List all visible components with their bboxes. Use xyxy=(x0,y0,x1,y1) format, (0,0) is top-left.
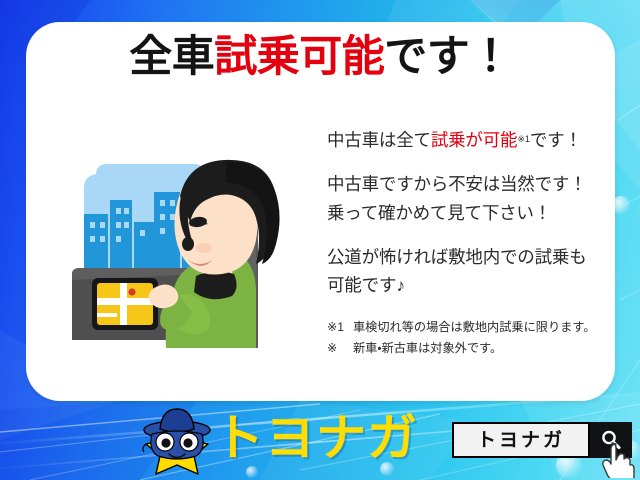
page-title: 全車試乗可能です！ xyxy=(26,32,615,83)
paragraph-3-line-1: 公道が怖ければ敷地内での試乗も xyxy=(327,247,587,267)
brand-wordmark: トヨナガ xyxy=(214,413,418,463)
paragraph-3: 公道が怖ければ敷地内での試乗も 可能です♪ xyxy=(327,243,615,300)
paragraph-2-line-2: 乗って確かめて見て下さい！ xyxy=(327,203,551,223)
footnote-item: ※1車検切れ等の場合は敷地内試乗に限ります。 xyxy=(327,317,615,338)
body-copy: 中古車は全て試乗が可能※1です！ 中古車ですから不安は当然です！ 乗って確かめて… xyxy=(327,126,615,359)
search-input-value: トヨナガ xyxy=(477,431,565,450)
footnote-mark: ※ xyxy=(327,338,353,359)
paragraph-1-highlight: 試乗が可能 xyxy=(431,130,518,150)
footnotes: ※1車検切れ等の場合は敷地内試乗に限ります。 ※新車・新古車は対象外です。 xyxy=(327,317,615,359)
paragraph-1-after: です！ xyxy=(530,130,582,150)
headline-segment-3: です！ xyxy=(384,33,512,81)
banner-root: 全車試乗可能です！ xyxy=(0,0,640,480)
brand-footer: トヨナガ トヨナガ xyxy=(0,400,640,480)
driving-illustration xyxy=(54,148,300,353)
footnote-text: 車検切れ等の場合は敷地内試乗に限ります。 xyxy=(353,320,596,334)
paragraph-2-line-1: 中古車ですから不安は当然です！ xyxy=(327,174,587,194)
paragraph-3-line-2: 可能です♪ xyxy=(327,275,405,295)
content-card: 全車試乗可能です！ xyxy=(26,22,615,401)
toyonaga-mascot-icon xyxy=(138,406,216,478)
footnote-mark: ※1 xyxy=(327,317,353,338)
footnote-item: ※新車・新古車は対象外です。 xyxy=(327,338,615,359)
headline-segment-2: 試乗可能 xyxy=(214,33,384,81)
search-input[interactable]: トヨナガ xyxy=(452,422,590,458)
paragraph-1: 中古車は全て試乗が可能※1です！ xyxy=(327,126,615,154)
paragraph-1-before: 中古車は全て xyxy=(327,130,431,150)
headline-segment-1: 全車 xyxy=(129,33,214,81)
footnote-ref-1: ※1 xyxy=(517,134,530,144)
footnote-text: 新車・新古車は対象外です。 xyxy=(353,341,502,355)
hand-pointer-cursor-icon xyxy=(601,440,635,478)
paragraph-2: 中古車ですから不安は当然です！ 乗って確かめて見て下さい！ xyxy=(327,170,615,227)
